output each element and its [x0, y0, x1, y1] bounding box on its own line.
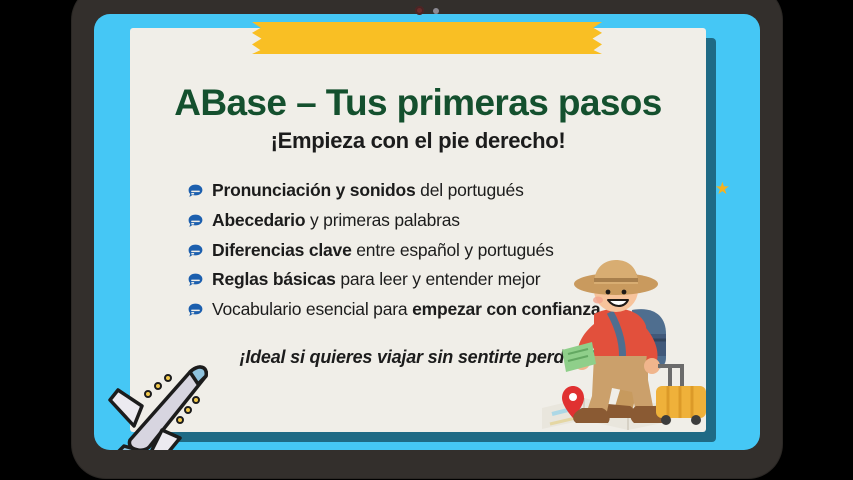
traveler-with-suitcase-icon: [536, 258, 706, 432]
slide-canvas: ★ ★ ★ ★ ★ ABase – Tus primeras pasos ¡Em…: [0, 0, 853, 480]
title-rest: Tus primeras pasos: [326, 82, 662, 123]
list-item-label: Diferencias clave entre español y portug…: [212, 240, 554, 262]
list-item-label: Abecedario y primeras palabras: [212, 210, 460, 232]
tablet-camera-group: [415, 6, 439, 15]
sensor-icon: [433, 8, 439, 14]
speech-bubble-icon: [188, 303, 203, 317]
speech-bubble-icon: [188, 184, 203, 198]
list-item: Pronunciación y sonidos del portugués: [188, 180, 676, 202]
camera-icon: [415, 6, 424, 15]
speech-bubble-icon: [188, 214, 203, 228]
list-item-label: Reglas básicas para leer y entender mejo…: [212, 269, 540, 291]
title-brand: ABase: [174, 82, 286, 123]
list-item: Abecedario y primeras palabras: [188, 210, 676, 232]
decorative-ribbon-banner: [252, 22, 602, 54]
airplane-icon: [104, 346, 226, 450]
tablet-screen: ★ ★ ★ ★ ★ ABase – Tus primeras pasos ¡Em…: [94, 14, 760, 450]
list-item-label: Pronunciación y sonidos del portugués: [212, 180, 524, 202]
suitcase-icon: [656, 386, 706, 425]
star-icon: ★: [715, 180, 730, 197]
speech-bubble-icon: [188, 244, 203, 258]
page-subtitle: ¡Empieza con el pie derecho!: [160, 128, 676, 154]
title-dash: –: [296, 82, 316, 123]
tablet-device-frame: ★ ★ ★ ★ ★ ABase – Tus primeras pasos ¡Em…: [72, 0, 782, 478]
page-title: ABase – Tus primeras pasos: [160, 84, 676, 123]
speech-bubble-icon: [188, 273, 203, 287]
hat-icon: [574, 260, 658, 295]
